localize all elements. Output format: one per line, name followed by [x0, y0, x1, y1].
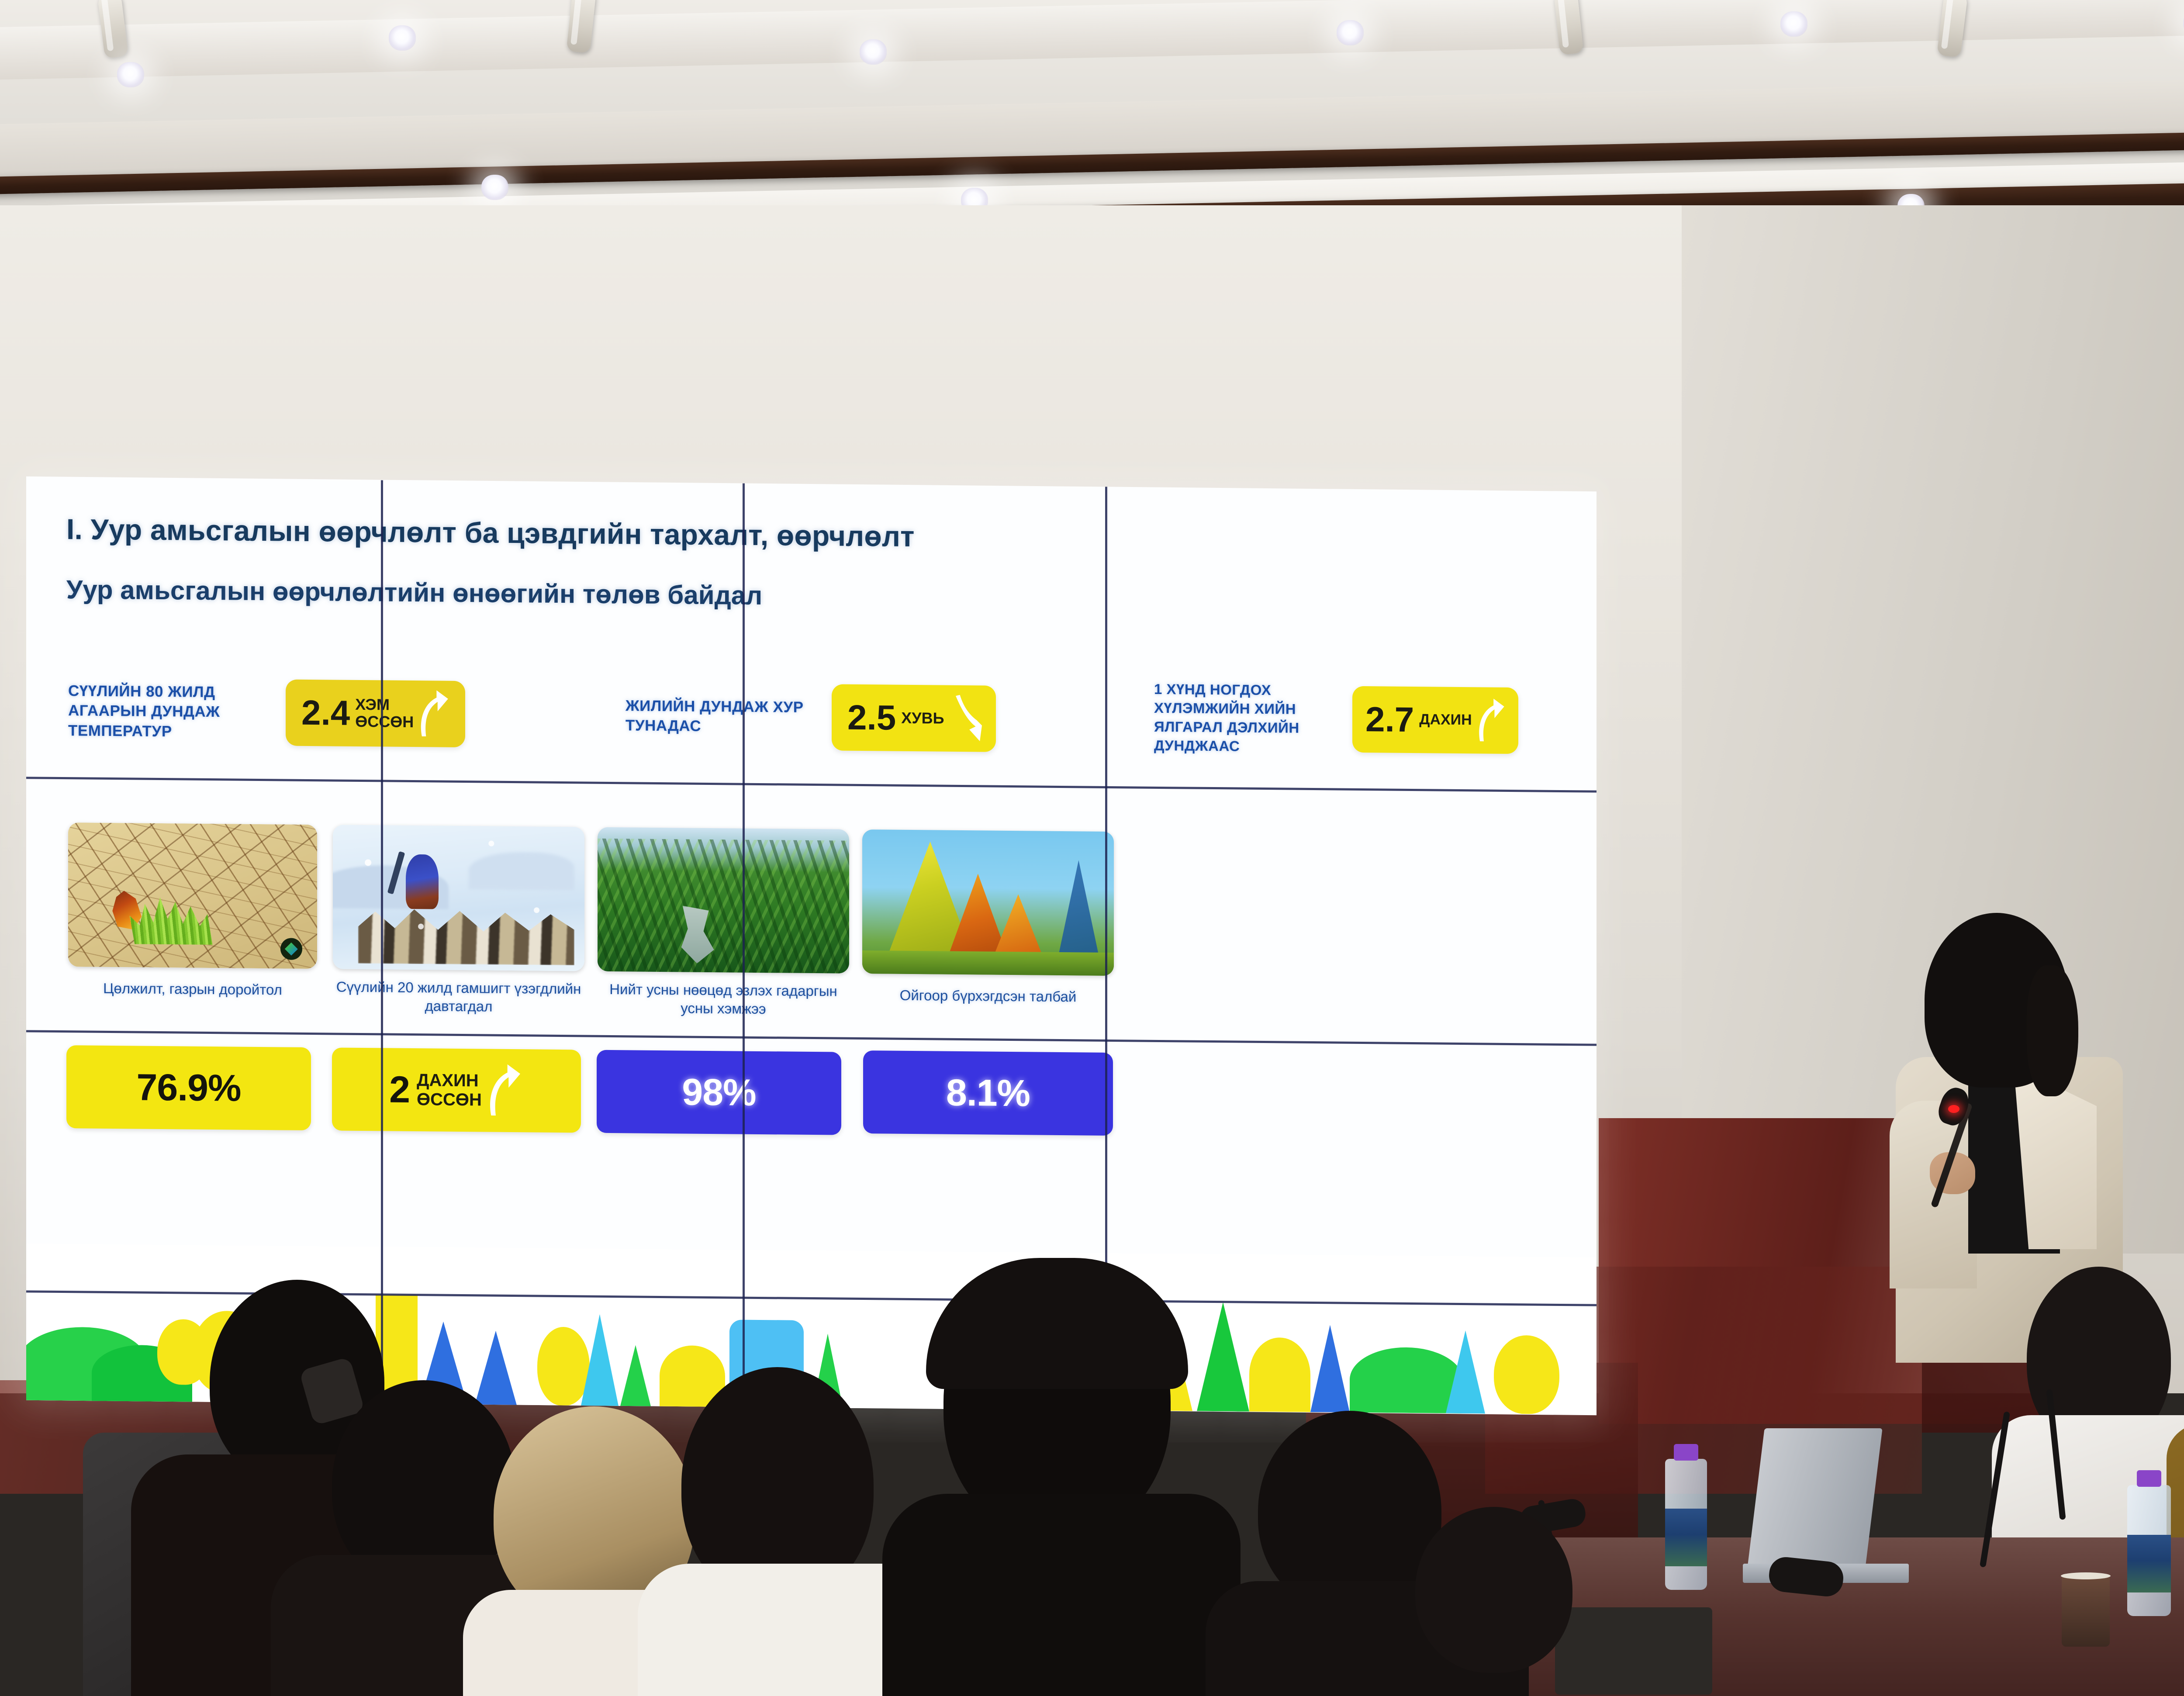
stat-card-emissions: 1 ХҮНД НОГДОХ ХҮЛЭМЖИЙН ХИЙН ЯЛГАРАЛ ДЭЛ… — [1154, 680, 1595, 759]
stat-value: 2.5 — [847, 701, 896, 734]
coffee-cup — [2062, 1577, 2110, 1647]
stat-label: 1 ХҮНД НОГДОХ ХҮЛЭМЖИЙН ХИЙН ЯЛГАРАЛ ДЭЛ… — [1154, 680, 1342, 756]
metric-unit-line2: ӨССӨН — [417, 1090, 482, 1109]
photo-caption: Нийт усны нөөцөд эзлэх гадаргын усны хэм… — [592, 980, 854, 1019]
stat-chip: 2.5 ХУВЬ — [832, 684, 996, 752]
stat-unit: ХУВЬ — [901, 709, 944, 727]
stat-unit-line1: ХУВЬ — [901, 709, 944, 727]
metric-value: 98% — [682, 1071, 756, 1114]
stat-label: СҮҮЛИЙН 80 ЖИЛД АГААРЫН ДУНДАЖ ТЕМПЕРАТУ… — [68, 681, 269, 743]
brand-logo-icon — [280, 938, 302, 960]
stat-unit-line1: ДАХИН — [1419, 712, 1472, 729]
microphone-led-indicator — [1948, 1105, 1959, 1113]
stat-chip: 2.4 ХЭМ ӨССӨН — [286, 679, 465, 747]
stat-unit-line2: ӨССӨН — [355, 713, 414, 731]
ceiling-downlight — [860, 39, 887, 65]
metric-bar-disasters: 2 ДАХИН ӨССӨН — [332, 1047, 581, 1133]
stat-label: ЖИЛИЙН ДУНДАЖ ХУР ТУНАДАС — [625, 696, 813, 737]
monitor-panel — [1555, 1607, 1712, 1695]
metric-value: 2 — [389, 1068, 410, 1111]
slide-photo-drought — [68, 822, 317, 969]
arrow-up-icon — [419, 690, 452, 738]
photo-caption: Цөлжилт, газрын доройтол — [68, 979, 317, 999]
water-bottle — [1665, 1459, 1707, 1590]
arrow-up-icon — [1477, 698, 1508, 743]
stat-unit: ДАХИН — [1419, 712, 1472, 729]
metric-bar-forest-cover: 8.1% — [863, 1050, 1113, 1136]
bottle-label — [2127, 1535, 2171, 1592]
stat-chip: 2.7 ДАХИН — [1352, 686, 1518, 754]
ceiling-downlight — [1780, 11, 1807, 37]
stat-value: 2.4 — [301, 697, 350, 729]
bottle-cap — [1674, 1444, 1698, 1461]
metric-bar-surface-water: 98% — [597, 1050, 841, 1135]
metric-unit-line1: ДАХИН — [417, 1071, 482, 1090]
slide-subtitle: Уур амьсгалын өөрчлөлтийн өнөөгийн төлөв… — [66, 574, 762, 611]
slide-photo-dzud — [333, 825, 584, 971]
ceiling-downlight — [481, 175, 508, 200]
screen-seam — [743, 484, 745, 1407]
water-bottle — [2127, 1485, 2171, 1616]
arrow-up-icon — [489, 1064, 524, 1117]
stat-card-temperature: СҮҮЛИЙН 80 ЖИЛД АГААРЫН ДУНДАЖ ТЕМПЕРАТУ… — [68, 677, 584, 748]
photo-caption: Сүүлийн 20 жилд гамшигт үзэгдлийн давтаг… — [328, 978, 590, 1017]
ceiling-downlight — [1337, 20, 1364, 45]
bottle-label — [1665, 1509, 1707, 1566]
stat-row: СҮҮЛИЙН 80 ЖИЛД АГААРЫН ДУНДАЖ ТЕМПЕРАТУ… — [26, 669, 1597, 792]
slide-title: I. Уур амьсгалын өөрчлөлт ба цэвдгийн та… — [66, 512, 915, 553]
photo-caption: Ойгоор бүрхэгдсэн талбай — [859, 986, 1117, 1006]
screen-seam — [26, 1030, 1597, 1046]
screen-seam — [381, 480, 383, 1404]
ceiling-downlight — [389, 25, 416, 51]
stat-card-precipitation: ЖИЛИЙН ДУНДАЖ ХУР ТУНАДАС 2.5 ХУВЬ — [625, 682, 1115, 753]
slide-photo-river-valley — [598, 827, 849, 974]
metric-unit: ДАХИН ӨССӨН — [417, 1071, 482, 1109]
slide-photo-autumn-forest — [862, 829, 1114, 976]
metric-bar-degradation: 76.9% — [66, 1045, 311, 1130]
arrow-down-icon — [950, 695, 983, 743]
stat-unit-line1: ХЭМ — [355, 696, 414, 714]
bottle-cap — [2137, 1470, 2161, 1487]
metric-value: 76.9% — [137, 1066, 241, 1110]
stat-unit: ХЭМ ӨССӨН — [355, 696, 414, 731]
presentation-screen: I. Уур амьсгалын өөрчлөлт ба цэвдгийн та… — [26, 477, 1597, 1416]
audience-head — [1415, 1507, 1572, 1673]
metric-value: 8.1% — [946, 1071, 1030, 1115]
laptop-screen — [1747, 1428, 1882, 1568]
audience-body — [882, 1494, 1241, 1696]
ceiling-downlight — [117, 62, 144, 87]
conference-room-scene: I. Уур амьсгалын өөрчлөлт ба цэвдгийн та… — [0, 0, 2184, 1696]
stat-value: 2.7 — [1365, 703, 1414, 736]
